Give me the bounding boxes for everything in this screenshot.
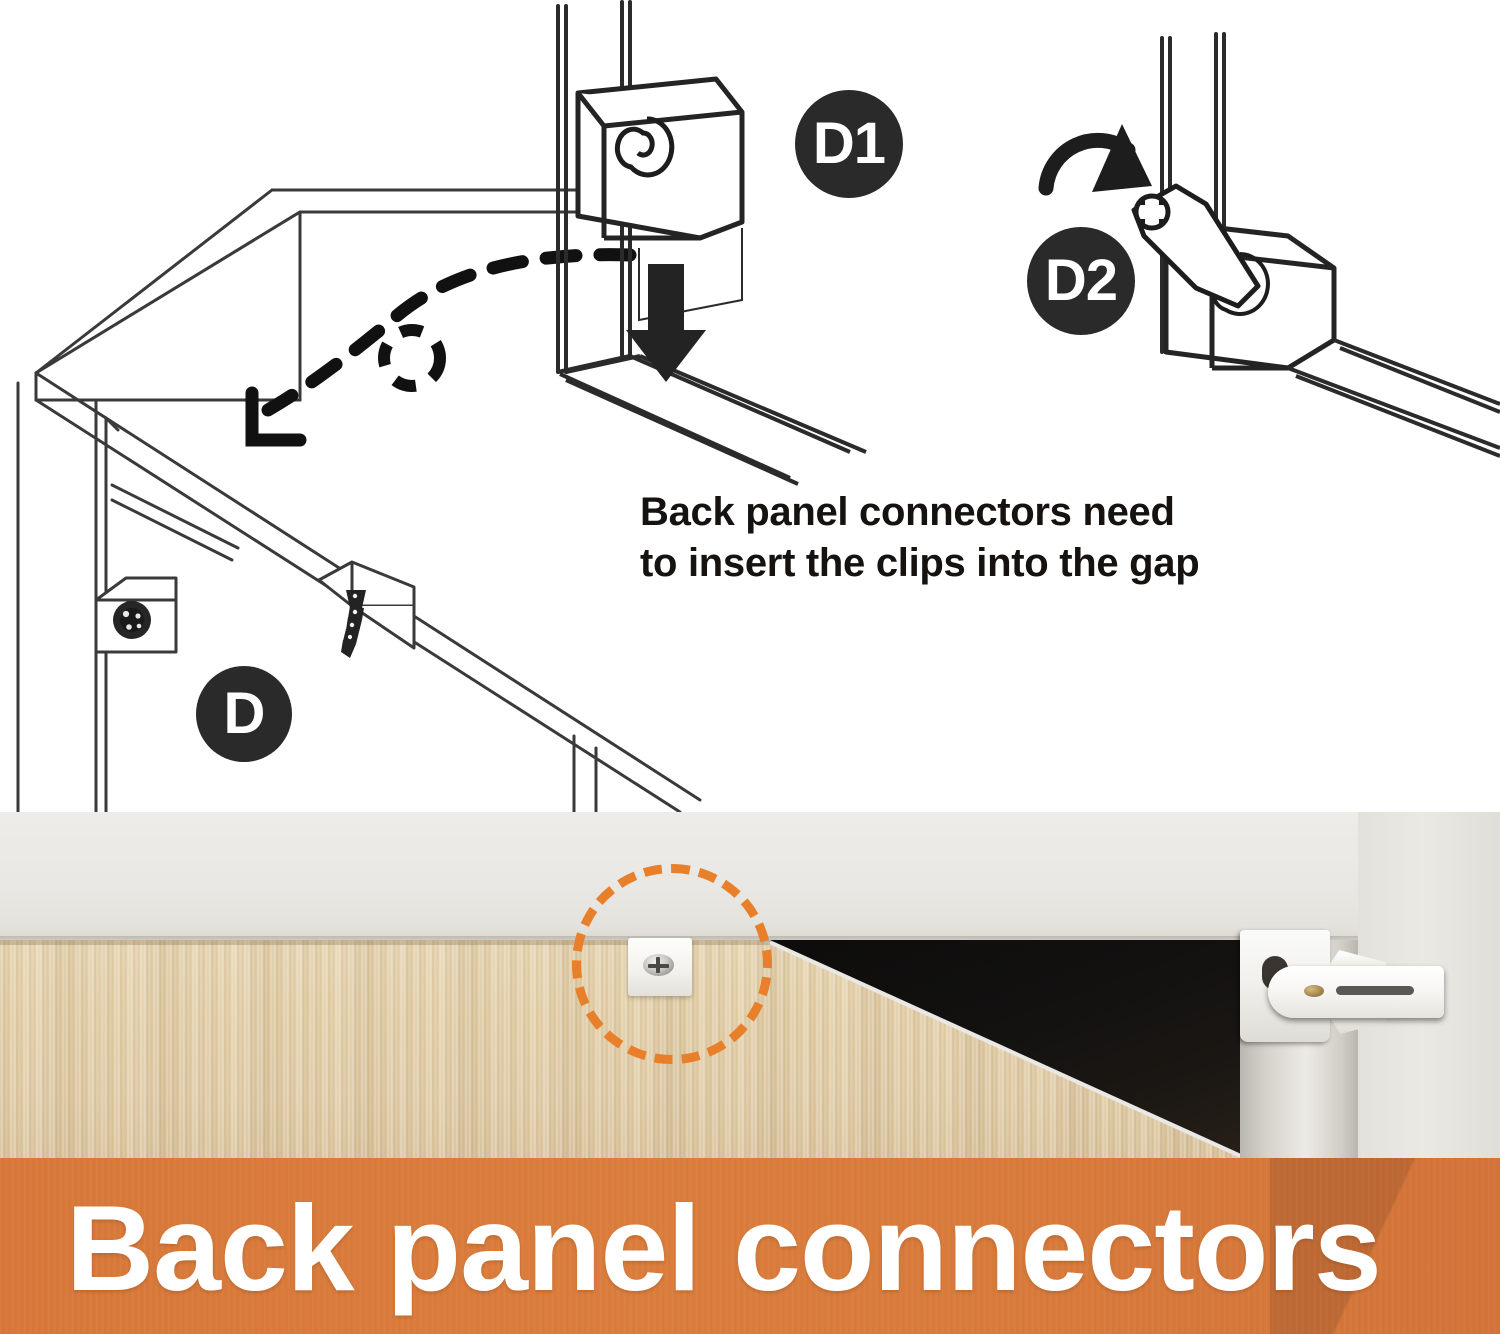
cam-screw-icon xyxy=(113,601,151,639)
assembly-diagram-panel: D D1 D2 Back panel connectors need to in… xyxy=(0,0,1500,812)
bracket-icon xyxy=(319,562,414,648)
step-badge-d2-label: D2 xyxy=(1045,252,1117,310)
step-badge-d1: D1 xyxy=(795,90,903,198)
screwdriver-icon xyxy=(1136,196,1168,228)
step-badge-d1-label: D1 xyxy=(813,115,885,173)
banner-title: Back panel connectors xyxy=(66,1165,1466,1331)
clip-screw-head xyxy=(1304,985,1324,997)
rotate-arrow-icon xyxy=(1046,124,1152,192)
step-badge-d: D xyxy=(196,666,292,762)
step-badge-d2: D2 xyxy=(1027,227,1135,335)
orange-dashed-highlight-circle xyxy=(572,864,772,1064)
step-badge-d-label: D xyxy=(224,685,265,743)
dashed-curved-arrow-icon xyxy=(252,255,630,440)
clip-slot xyxy=(1336,986,1414,995)
cabinet-frame-icon xyxy=(18,190,700,812)
product-infographic: D D1 D2 Back panel connectors need to in… xyxy=(0,0,1500,1334)
d1-detail-group xyxy=(558,2,866,484)
instruction-caption: Back panel connectors need to insert the… xyxy=(640,487,1200,589)
